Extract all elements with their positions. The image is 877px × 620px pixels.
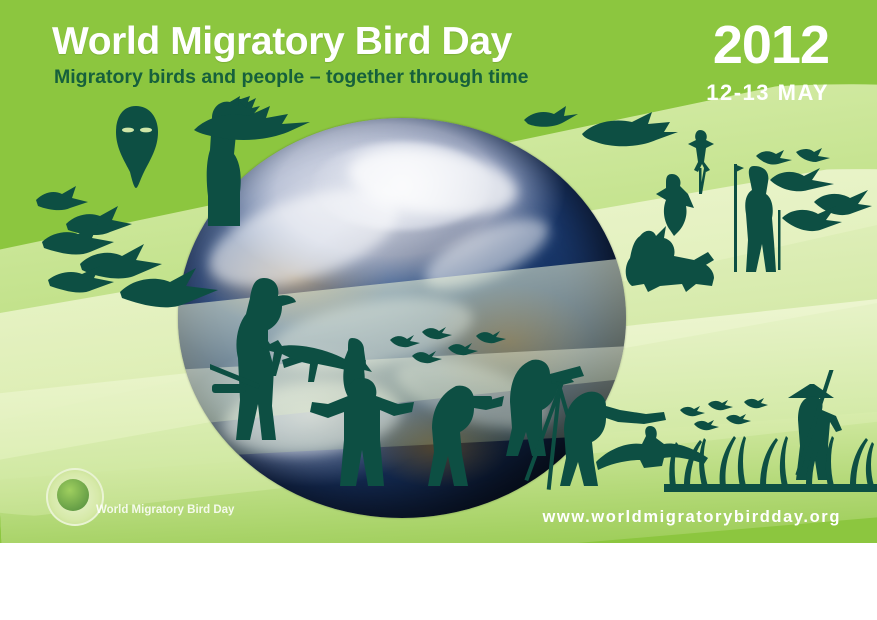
migrating-flock-over-globe bbox=[388, 326, 506, 366]
distant-bird-flock bbox=[752, 148, 872, 248]
tribal-mask-figure bbox=[106, 104, 168, 190]
eagle-in-flight-silhouette bbox=[192, 104, 312, 146]
wmbd-logo-label: World Migratory Bird Day bbox=[96, 504, 234, 516]
page-title: World Migratory Bird Day bbox=[52, 22, 512, 61]
wmbd-poster: World Migratory Bird Day Migratory birds… bbox=[0, 0, 877, 620]
wmbd-logo-globe-icon bbox=[57, 479, 89, 511]
crane-flying-silhouette bbox=[524, 104, 578, 136]
wmbd-logo: World Migratory Bird Day bbox=[46, 468, 230, 528]
reed-grass-silhouettes bbox=[664, 424, 877, 494]
poster-year: 2012 bbox=[713, 18, 829, 72]
poster-dates: 12-13 MAY bbox=[706, 82, 829, 104]
poster-subtitle: Migratory birds and people – together th… bbox=[54, 68, 529, 88]
soaring-bird-silhouette bbox=[582, 112, 678, 154]
person-arms-out-silhouette bbox=[310, 378, 414, 488]
wading-bird-silhouette bbox=[682, 128, 722, 196]
website-url[interactable]: www.worldmigratorybirdday.org bbox=[542, 508, 841, 527]
sponsor-bar: UNESCO United Nations Educational, Scien… bbox=[0, 543, 877, 620]
poster-artwork-stage: World Migratory Bird Day Migratory birds… bbox=[0, 0, 877, 543]
small-bird-flock bbox=[678, 398, 768, 432]
